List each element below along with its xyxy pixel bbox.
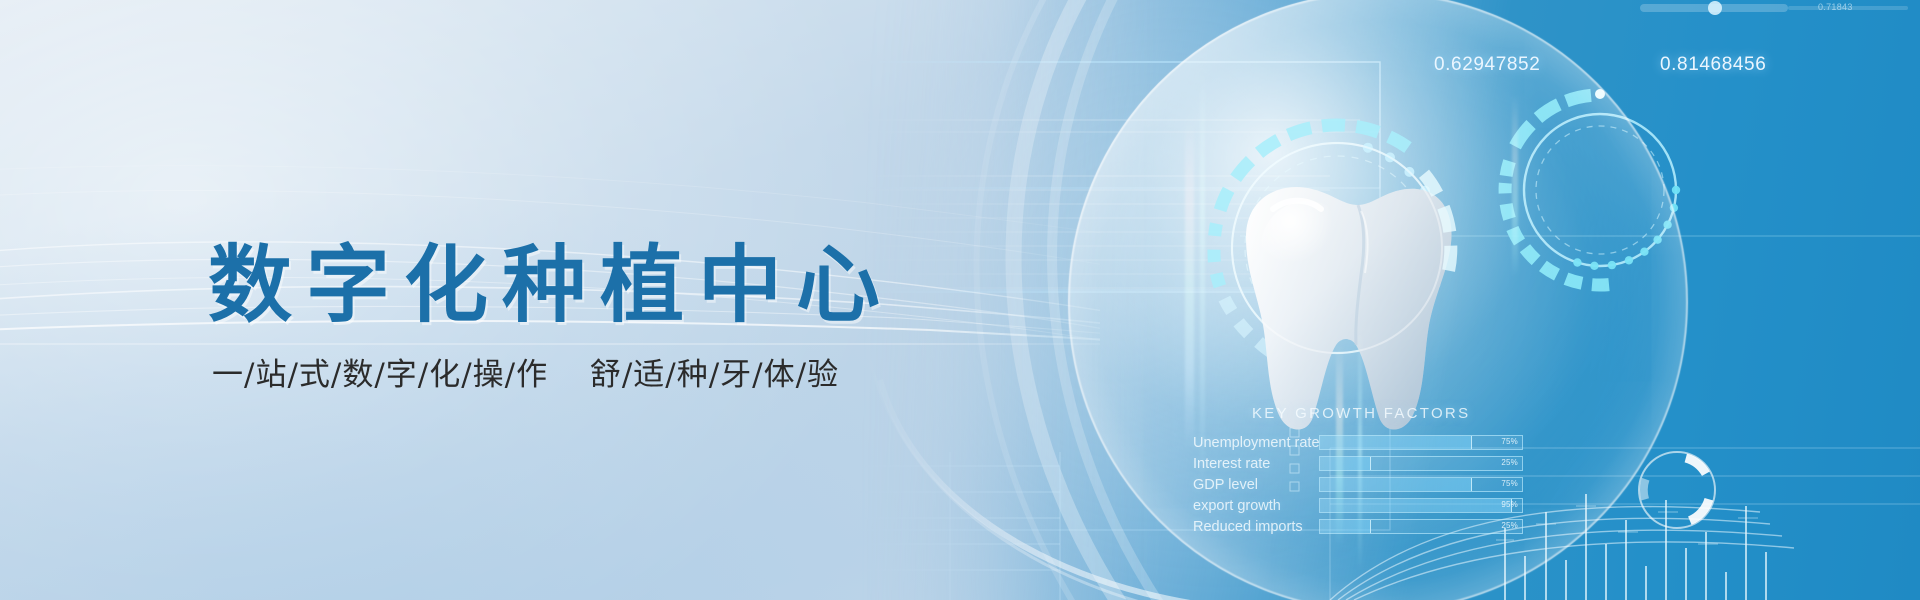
tech-panel-graphics — [860, 0, 1920, 600]
hud-readout-left: 0.62947852 — [1434, 54, 1540, 76]
page-title: 数字化种植中心 — [208, 218, 894, 339]
page-subtitle: 一/站/式/数/字/化/操/作 舒/适/种/牙/体/验 — [212, 349, 839, 394]
hud-readout-right: 0.81468456 — [1660, 54, 1766, 76]
hero-banner: 0.62947852 0.81468456 0.71843 KEY GROWTH… — [0, 0, 1920, 600]
right-gauge — [1505, 89, 1680, 285]
subtitle-part-right: 舒/适/种/牙/体/验 — [590, 357, 839, 393]
subtitle-part-left: 一/站/式/数/字/化/操/作 — [212, 357, 548, 393]
small-gauge — [1639, 452, 1715, 528]
tech-panel — [860, 0, 1920, 600]
hud-slider-value: 0.71843 — [1818, 2, 1853, 12]
hud-slider — [1640, 1, 1908, 15]
